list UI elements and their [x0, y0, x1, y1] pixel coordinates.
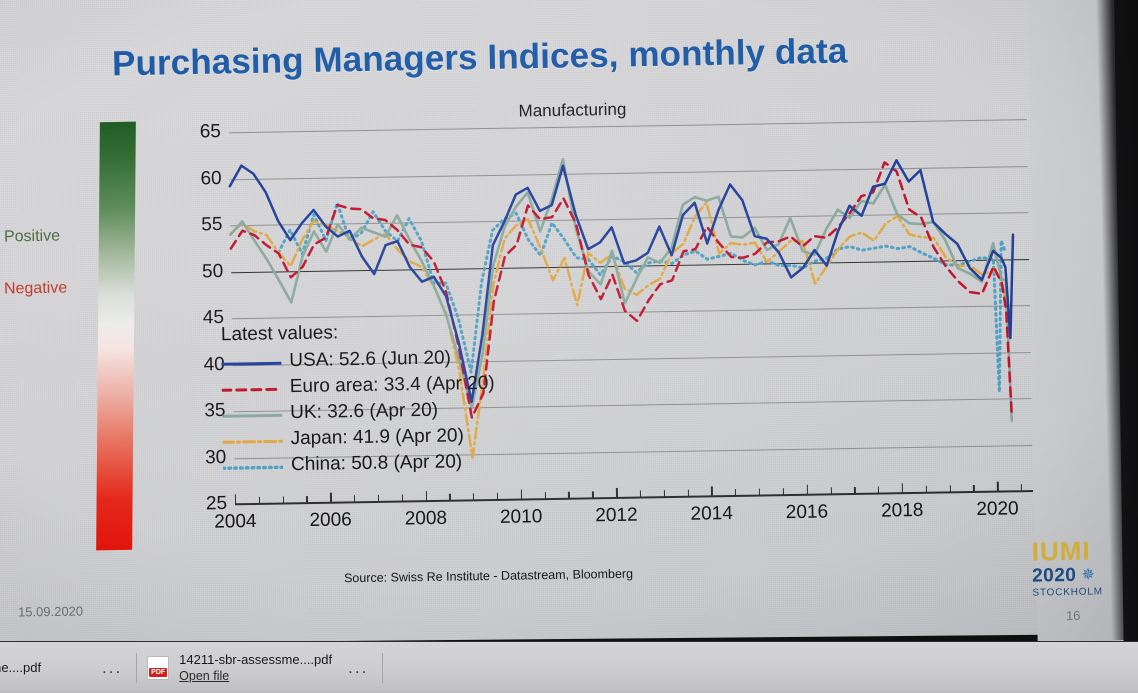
legend-item-china[interactable]: China: 50.8 (Apr 20): [223, 449, 496, 480]
y-axis-tick-50: 50: [202, 261, 224, 283]
logo-year: 2020: [1032, 566, 1077, 586]
pdf-icon: [147, 656, 169, 680]
x-axis-tick-2020: 2020: [976, 498, 1019, 521]
legend-label: Japan: 41.9 (Apr 20): [290, 425, 464, 450]
legend-swatch-euro-area: [222, 380, 282, 395]
download-text-block: sme....pdf: [0, 660, 41, 675]
download-menu-button-2[interactable]: ...: [338, 658, 378, 678]
page-number: 16: [1066, 608, 1081, 623]
x-axis-tick-2018: 2018: [881, 500, 924, 523]
x-axis-tick-2008: 2008: [405, 508, 448, 531]
x-tick: [949, 485, 950, 492]
slide-date: 15.09.2020: [18, 603, 83, 619]
snowflake-icon: ✵: [1081, 567, 1095, 583]
x-tick: [735, 489, 736, 496]
x-tick: [640, 491, 641, 498]
legend-heading: Latest values:: [221, 320, 494, 347]
x-tick: [449, 494, 450, 501]
x-tick: [235, 494, 237, 504]
color-scale-positive-label: Positive: [4, 228, 60, 247]
y-axis-tick-60: 60: [200, 168, 222, 190]
x-tick: [354, 495, 355, 502]
browser-download-bar: sme....pdf ... 14211-sbr-assessme....pdf…: [0, 641, 1138, 693]
download-item[interactable]: 14211-sbr-assessme....pdf Open file: [141, 642, 338, 693]
x-tick: [402, 494, 403, 501]
download-separator: [136, 653, 137, 683]
x-tick: [425, 491, 427, 501]
y-axis-tick-55: 55: [201, 214, 223, 236]
download-file-name: sme....pdf: [0, 660, 41, 675]
legend-label: USA: 52.6 (Jun 20): [289, 347, 451, 372]
x-tick: [687, 490, 688, 497]
x-tick: [497, 493, 498, 500]
sentiment-color-scale: [96, 122, 136, 551]
legend-swatch-japan: [223, 432, 283, 447]
y-axis-tick-65: 65: [200, 121, 222, 143]
x-axis-tick-2012: 2012: [595, 505, 638, 528]
x-tick: [378, 495, 379, 502]
x-tick: [711, 486, 713, 496]
x-tick: [926, 486, 927, 493]
x-axis-tick-2014: 2014: [690, 503, 733, 526]
x-tick: [521, 490, 523, 500]
x-tick: [473, 493, 474, 500]
iumi-logo: IUMI 2020 ✵ STOCKHOLM: [1031, 537, 1102, 598]
x-tick: [759, 489, 760, 496]
x-axis-tick-2004: 2004: [214, 511, 257, 534]
download-item-partial[interactable]: sme....pdf: [0, 660, 92, 675]
x-tick: [997, 482, 999, 492]
logo-name: IUMI: [1031, 537, 1102, 564]
x-tick: [830, 487, 831, 494]
x-tick: [330, 493, 332, 503]
legend-entries: USA: 52.6 (Jun 20)Euro area: 33.4 (Apr 2…: [221, 345, 496, 480]
legend-swatch-china: [223, 458, 283, 473]
legend-label: Euro area: 33.4 (Apr 20): [290, 373, 495, 398]
x-tick: [854, 487, 855, 494]
x-axis-tick-2016: 2016: [786, 501, 829, 524]
color-gradient-bar: [96, 122, 136, 551]
legend-swatch-usa: [221, 354, 281, 369]
download-text-block: 14211-sbr-assessme....pdf Open file: [179, 652, 332, 683]
x-tick: [545, 492, 546, 499]
legend-label: UK: 32.6 (Apr 20): [290, 400, 438, 424]
legend-label: China: 50.8 (Apr 20): [291, 451, 462, 476]
x-tick: [807, 485, 809, 495]
x-axis-tick-2006: 2006: [309, 509, 352, 532]
x-tick: [902, 483, 904, 493]
x-tick: [259, 497, 260, 504]
x-tick: [878, 487, 879, 494]
x-tick: [616, 488, 618, 498]
legend-swatch-uk: [222, 406, 282, 421]
logo-year-row: 2020 ✵: [1032, 565, 1103, 585]
x-tick: [306, 496, 307, 503]
logo-city: STOCKHOLM: [1032, 587, 1103, 598]
x-tick: [1021, 484, 1022, 491]
chart-legend: Latest values: USA: 52.6 (Jun 20)Euro ar…: [221, 320, 496, 480]
x-axis-tick-2010: 2010: [500, 506, 543, 529]
color-scale-negative-label: Negative: [4, 279, 67, 298]
open-file-link[interactable]: Open file: [179, 669, 332, 683]
chart-title: Manufacturing: [518, 100, 626, 122]
x-tick: [592, 491, 593, 498]
x-tick: [973, 485, 974, 492]
x-tick: [664, 490, 665, 497]
photographed-screen: Purchasing Managers Indices, monthly dat…: [0, 0, 1138, 693]
download-file-name: 14211-sbr-assessme....pdf: [179, 652, 332, 667]
x-tick: [783, 488, 784, 495]
x-tick: [568, 492, 569, 499]
download-separator: [382, 653, 383, 683]
download-menu-button-1[interactable]: ...: [92, 658, 132, 678]
x-tick: [283, 496, 284, 503]
